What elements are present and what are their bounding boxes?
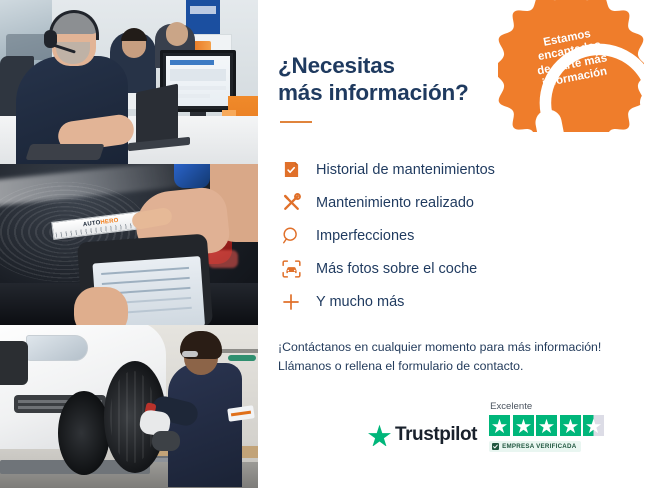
feature-label: Imperfecciones [316,229,414,244]
car-grille [0,341,28,385]
rating-label: Excelente [490,401,532,412]
contact-line-1: ¡Contáctanos en cualquier momento para m… [278,338,628,357]
star-rating [489,415,604,436]
background-colleague-2-head [166,22,188,46]
star-filled [560,415,581,436]
vehicle-inspection-photo: AUTOHERO [0,164,258,325]
safety-glasses [182,351,198,357]
feature-item-imperfections: Imperfecciones [278,219,650,252]
contact-line-2: Llámanos o rellena el formulario de cont… [278,357,628,376]
feature-label: Y mucho más [316,295,404,310]
inspector-hand-2 [74,287,128,325]
headline-line-1: ¿Necesitas [278,53,395,78]
feature-item-maintenance-done: Mantenimiento realizado [278,186,650,219]
rear-wheel [58,391,110,475]
photo-column: AUTOHERO [0,0,258,488]
ruler-brand-text: AUTOHERO [83,218,119,228]
plus-icon [278,293,304,311]
title-underline-rule [280,121,312,124]
content-panel: ¿Necesitas más información? Estamos enca… [258,0,650,488]
workshop-tool [228,355,256,361]
car-headlight [26,335,88,361]
ruler-brand-hero: HERO [100,218,119,226]
mechanic-glove-2 [152,431,180,451]
contact-text: ¡Contáctanos en cualquier momento para m… [278,338,628,376]
car-scan-icon [278,260,304,278]
trustpilot-wordmark: Trustpilot [395,424,477,446]
mechanic-torso [168,363,242,487]
screen-toolbar [170,60,214,65]
feature-list: Historial de mantenimientos Mantenimient… [278,153,650,318]
clipboard-check-icon [278,160,304,179]
feature-label: Mantenimiento realizado [316,196,474,211]
feature-item-more-photos: Más fotos sobre el coche [278,252,650,285]
call-center-agent-photo [0,0,258,164]
feature-label: Historial de mantenimientos [316,163,495,178]
page-title: ¿Necesitas más información? [278,52,493,107]
trustpilot-logo[interactable]: Trustpilot [368,424,477,452]
info-badge: Estamos encantados de darte más informac… [498,0,644,132]
star-filled [489,415,510,436]
verified-label: EMPRESA VERIFICADA [502,443,576,450]
verified-company-badge: EMPRESA VERIFICADA [489,441,581,452]
trustpilot-block: Trustpilot Excelente [368,401,604,452]
tools-cross-icon [278,193,304,212]
magnifier-icon [278,227,304,245]
feature-label: Más fotos sobre el coche [316,262,477,277]
promo-card: AUTOHERO [0,0,650,488]
feature-item-much-more: Y mucho más [278,285,650,318]
mechanic-wheel-photo [0,325,258,488]
trustpilot-rating: Excelente [489,401,604,452]
ruler-brand-auto: AUTO [83,220,101,228]
screen-row [170,69,226,81]
star-filled [513,415,534,436]
car-emblem [174,164,210,188]
desk-tablet [25,144,104,160]
screen-row [170,86,226,90]
verified-check-icon [492,443,499,450]
trustpilot-star-icon [368,424,391,446]
star-half [583,415,604,436]
headline-line-2: más información? [278,80,469,105]
star-filled [536,415,557,436]
